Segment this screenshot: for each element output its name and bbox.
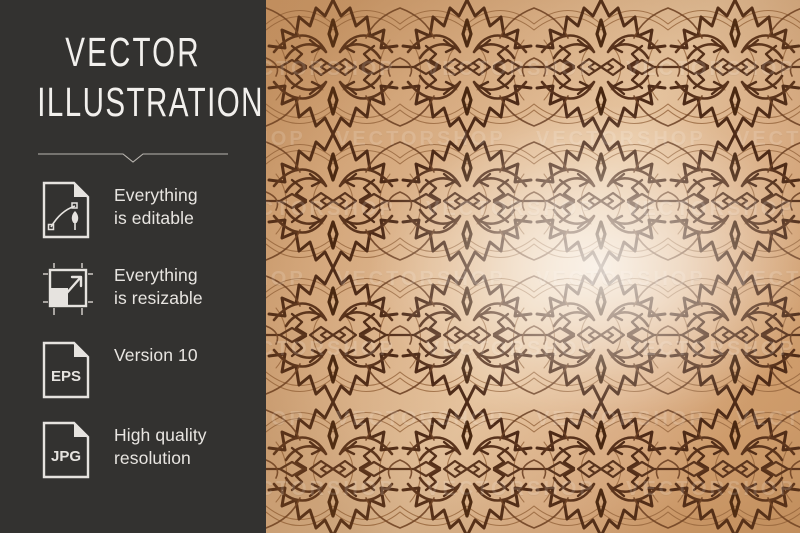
jpg-badge-label: JPG [51,448,81,465]
feature-item-editable: Everything is editable [0,178,266,258]
page-title: VECTOR ILLUSTRATION [0,30,266,126]
resize-arrow-icon [42,261,94,323]
feature-label-editable: Everything is editable [114,184,264,231]
feature-item-version: EPS Version 10 [0,338,266,418]
document-pen-edit-icon [42,181,94,243]
title-line-1: VECTOR [37,30,229,76]
feature-label-line-2: resolution [114,447,264,470]
info-panel: VECTOR ILLUSTRATION [0,0,266,533]
feature-label-line-1: Version 10 [114,344,264,367]
feature-label-line-1: Everything [114,184,264,207]
jpg-file-icon: JPG [42,421,94,483]
feature-label-line-2: is resizable [114,287,264,310]
feature-label-line-1: High quality [114,424,264,447]
eps-file-icon: EPS [42,341,94,403]
pattern-preview-panel: VECTORSHOP VECTORSHOP VECTORSHOP VECTORS… [266,0,800,533]
feature-item-resizable: Everything is resizable [0,258,266,338]
preview-canvas: VECTORSHOP VECTORSHOP VECTORSHOP VECTORS… [0,0,800,533]
seamless-tribal-ornament [266,0,800,533]
feature-item-quality: JPG High quality resolution [0,418,266,498]
feature-label-line-2: is editable [114,207,264,230]
feature-label-quality: High quality resolution [114,424,264,471]
divider [38,150,228,164]
feature-label-resizable: Everything is resizable [114,264,264,311]
eps-badge-label: EPS [51,368,81,385]
feature-list: Everything is editable [0,178,266,498]
title-line-2: ILLUSTRATION [37,80,229,126]
feature-label-line-1: Everything [114,264,264,287]
feature-label-version: Version 10 [114,344,264,367]
chevron-down-divider-icon [38,150,228,164]
